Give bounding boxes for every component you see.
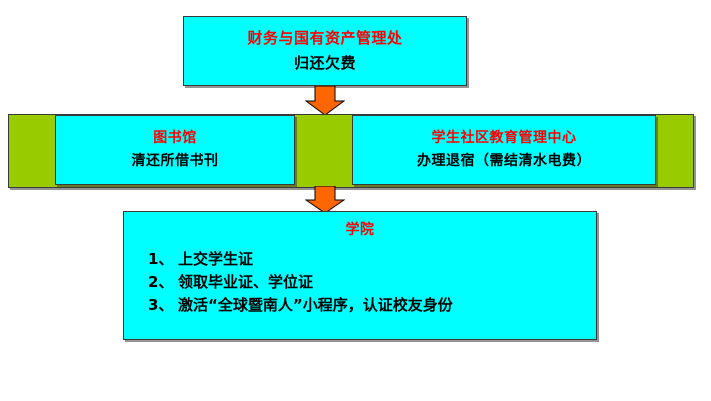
list-item-number: 3、 — [148, 294, 178, 317]
node-finance-department[interactable]: 财务与国有资产管理处 归还欠费 — [183, 16, 467, 86]
list-item: 1、上交学生证 — [148, 248, 596, 271]
node-library[interactable]: 图书馆 清还所借书刊 — [55, 115, 295, 185]
list-item-label: 激活“全球暨南人”小程序，认证校友身份 — [178, 296, 453, 314]
node-library-subtitle: 清还所借书刊 — [132, 153, 219, 171]
node-finance-subtitle: 归还欠费 — [294, 54, 356, 73]
flowchart-canvas: 财务与国有资产管理处 归还欠费 图书馆 清还所借书刊 学生社区教育管理中心 办理… — [0, 0, 711, 401]
college-task-list: 1、上交学生证 2、领取毕业证、学位证 3、激活“全球暨南人”小程序，认证校友身… — [124, 248, 596, 318]
node-library-title: 图书馆 — [153, 130, 197, 148]
arrow-down-icon-shape — [305, 186, 345, 214]
node-student-community-center[interactable]: 学生社区教育管理中心 办理退宿（需结清水电费） — [352, 115, 656, 185]
list-item-number: 1、 — [148, 248, 178, 271]
node-college[interactable]: 学院 1、上交学生证 2、领取毕业证、学位证 3、激活“全球暨南人”小程序，认证… — [123, 211, 597, 340]
list-item-number: 2、 — [148, 271, 178, 294]
node-dorm-title: 学生社区教育管理中心 — [432, 130, 577, 148]
node-college-title: 学院 — [124, 222, 596, 240]
list-item: 3、激活“全球暨南人”小程序，认证校友身份 — [148, 294, 596, 317]
node-finance-title: 财务与国有资产管理处 — [247, 29, 402, 48]
arrow-down-icon-middle-to-college — [305, 186, 345, 214]
arrow-down-icon-finance-to-middle — [305, 86, 345, 116]
node-dorm-subtitle: 办理退宿（需结清水电费） — [417, 153, 591, 171]
list-item: 2、领取毕业证、学位证 — [148, 271, 596, 294]
list-item-label: 上交学生证 — [178, 250, 253, 268]
arrow-down-icon-shape — [305, 86, 345, 116]
list-item-label: 领取毕业证、学位证 — [178, 273, 313, 291]
